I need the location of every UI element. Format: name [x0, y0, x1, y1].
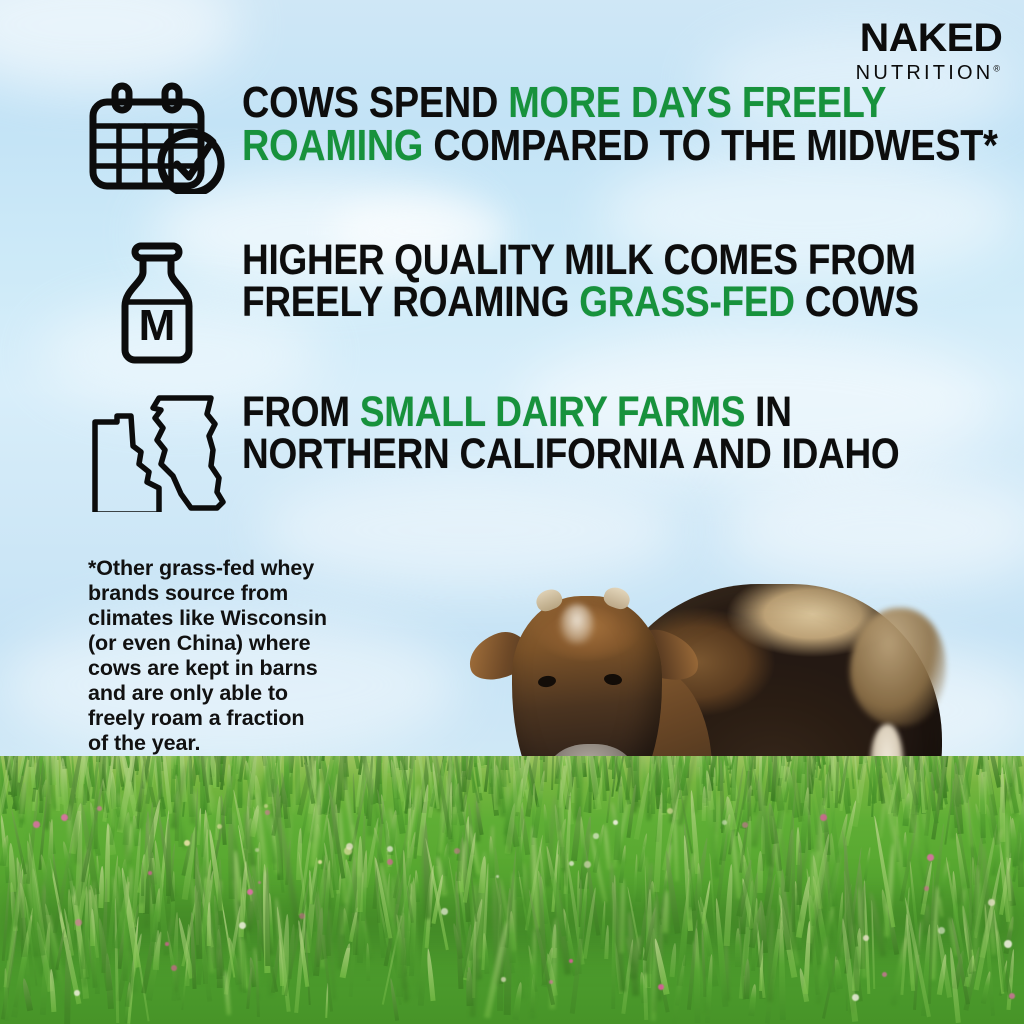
footnote-line: climates like Wisconsin: [88, 606, 388, 631]
logo-naked: NAKED: [853, 18, 1002, 58]
milk-bottle-letter: M: [139, 301, 176, 350]
wildflower: [722, 820, 727, 825]
wildflower: [33, 821, 40, 828]
wildflower: [441, 908, 448, 915]
headline-1-line-2: ROAMING COMPARED TO THE MIDWEST*: [242, 125, 998, 168]
wildflower: [255, 848, 259, 852]
feature-text-cell: COWS SPEND MORE DAYS FREELY ROAMING COMP…: [242, 82, 1024, 167]
headline-text-highlight: MORE DAYS FREELY: [508, 78, 886, 127]
wildflower: [820, 814, 827, 821]
wildflower: [318, 860, 322, 864]
grass-blade: [656, 756, 661, 795]
wildflower: [988, 899, 995, 906]
headline-text-highlight: GRASS-FED: [579, 278, 794, 326]
idaho-california-map-icon: [81, 392, 233, 512]
footnote-line: freely roam a fraction: [88, 706, 388, 731]
grass-blade: [403, 756, 408, 770]
cloud: [0, 0, 240, 90]
grass-blade: [349, 756, 360, 769]
wildflower: [165, 942, 169, 946]
wildflower: [61, 814, 68, 821]
calendar-check-icon: [83, 82, 231, 194]
wildflower: [852, 994, 859, 1001]
milk-bottle-icon: M: [107, 240, 207, 364]
footnote-line: (or even China) where: [88, 631, 388, 656]
wildflower: [613, 820, 618, 825]
headline-2-line-1: HIGHER QUALITY MILK COMES FROM: [242, 240, 919, 282]
headline-text: COWS SPEND: [242, 78, 508, 127]
feature-row-3: FROM SMALL DAIRY FARMS IN NORTHERN CALIF…: [72, 392, 1012, 512]
wildflower: [549, 980, 553, 984]
wildflower: [882, 972, 887, 977]
wildflower: [184, 840, 190, 846]
grass-blade: [462, 756, 466, 771]
feature-icon-cell: M: [72, 240, 242, 364]
grass-blade: [713, 767, 716, 822]
headline-text: COMPARED TO THE MIDWEST*: [423, 121, 997, 170]
wildflower: [863, 935, 869, 941]
feature-row-1: COWS SPEND MORE DAYS FREELY ROAMING COMP…: [72, 82, 1012, 194]
headline-text: NORTHERN CALIFORNIA AND IDAHO: [242, 430, 899, 478]
wildflower: [387, 846, 393, 852]
feature-icon-cell: [72, 82, 242, 194]
feature-text-cell: FROM SMALL DAIRY FARMS IN NORTHERN CALIF…: [242, 392, 1012, 475]
headline-3-line-1: FROM SMALL DAIRY FARMS IN: [242, 392, 904, 434]
feature-row-2: M HIGHER QUALITY MILK COMES FROM FREELY …: [72, 240, 1012, 364]
headline-2-line-2: FREELY ROAMING GRASS-FED COWS: [242, 282, 919, 324]
wildflower: [501, 977, 506, 982]
grass-blade: [57, 756, 59, 760]
wildflower: [265, 810, 270, 815]
headline-text: FREELY ROAMING: [242, 278, 579, 326]
cow-forehead-blaze: [560, 604, 594, 644]
headline-text: COWS: [795, 278, 919, 326]
wildflower: [74, 990, 80, 996]
wildflower: [387, 859, 393, 865]
grass-blade: [479, 756, 485, 768]
wildflower: [1004, 940, 1012, 948]
infographic-canvas: NAKED NUTRITION® COWS SPEND MORE D: [0, 0, 1024, 1024]
wildflower: [97, 806, 102, 811]
wildflower: [346, 843, 353, 850]
footnote-line: cows are kept in barns: [88, 656, 388, 681]
footnote-line: of the year.: [88, 731, 388, 756]
footnote-line: *Other grass-fed whey: [88, 556, 388, 581]
registered-mark: ®: [993, 63, 1000, 73]
footnote-disclaimer: *Other grass-fed whey brands source from…: [88, 556, 388, 756]
footnote-line: and are only able to: [88, 681, 388, 706]
footnote-line: brands source from: [88, 581, 388, 606]
wildflower: [938, 927, 945, 934]
wildflower: [584, 861, 591, 868]
headline-text-highlight: ROAMING: [242, 121, 423, 170]
wildflower: [927, 854, 934, 861]
feature-icon-cell: [72, 392, 242, 512]
cow-rump-highlight: [850, 608, 946, 726]
wildflower: [148, 871, 152, 875]
headline-3-line-2: NORTHERN CALIFORNIA AND IDAHO: [242, 434, 904, 476]
grass-field: [0, 756, 1024, 1024]
brand-logo: NAKED NUTRITION®: [856, 18, 1002, 83]
feature-text-cell: HIGHER QUALITY MILK COMES FROM FREELY RO…: [242, 240, 1024, 323]
wildflower: [667, 808, 673, 814]
headline-1-line-1: COWS SPEND MORE DAYS FREELY: [242, 82, 998, 125]
wildflower: [593, 833, 599, 839]
